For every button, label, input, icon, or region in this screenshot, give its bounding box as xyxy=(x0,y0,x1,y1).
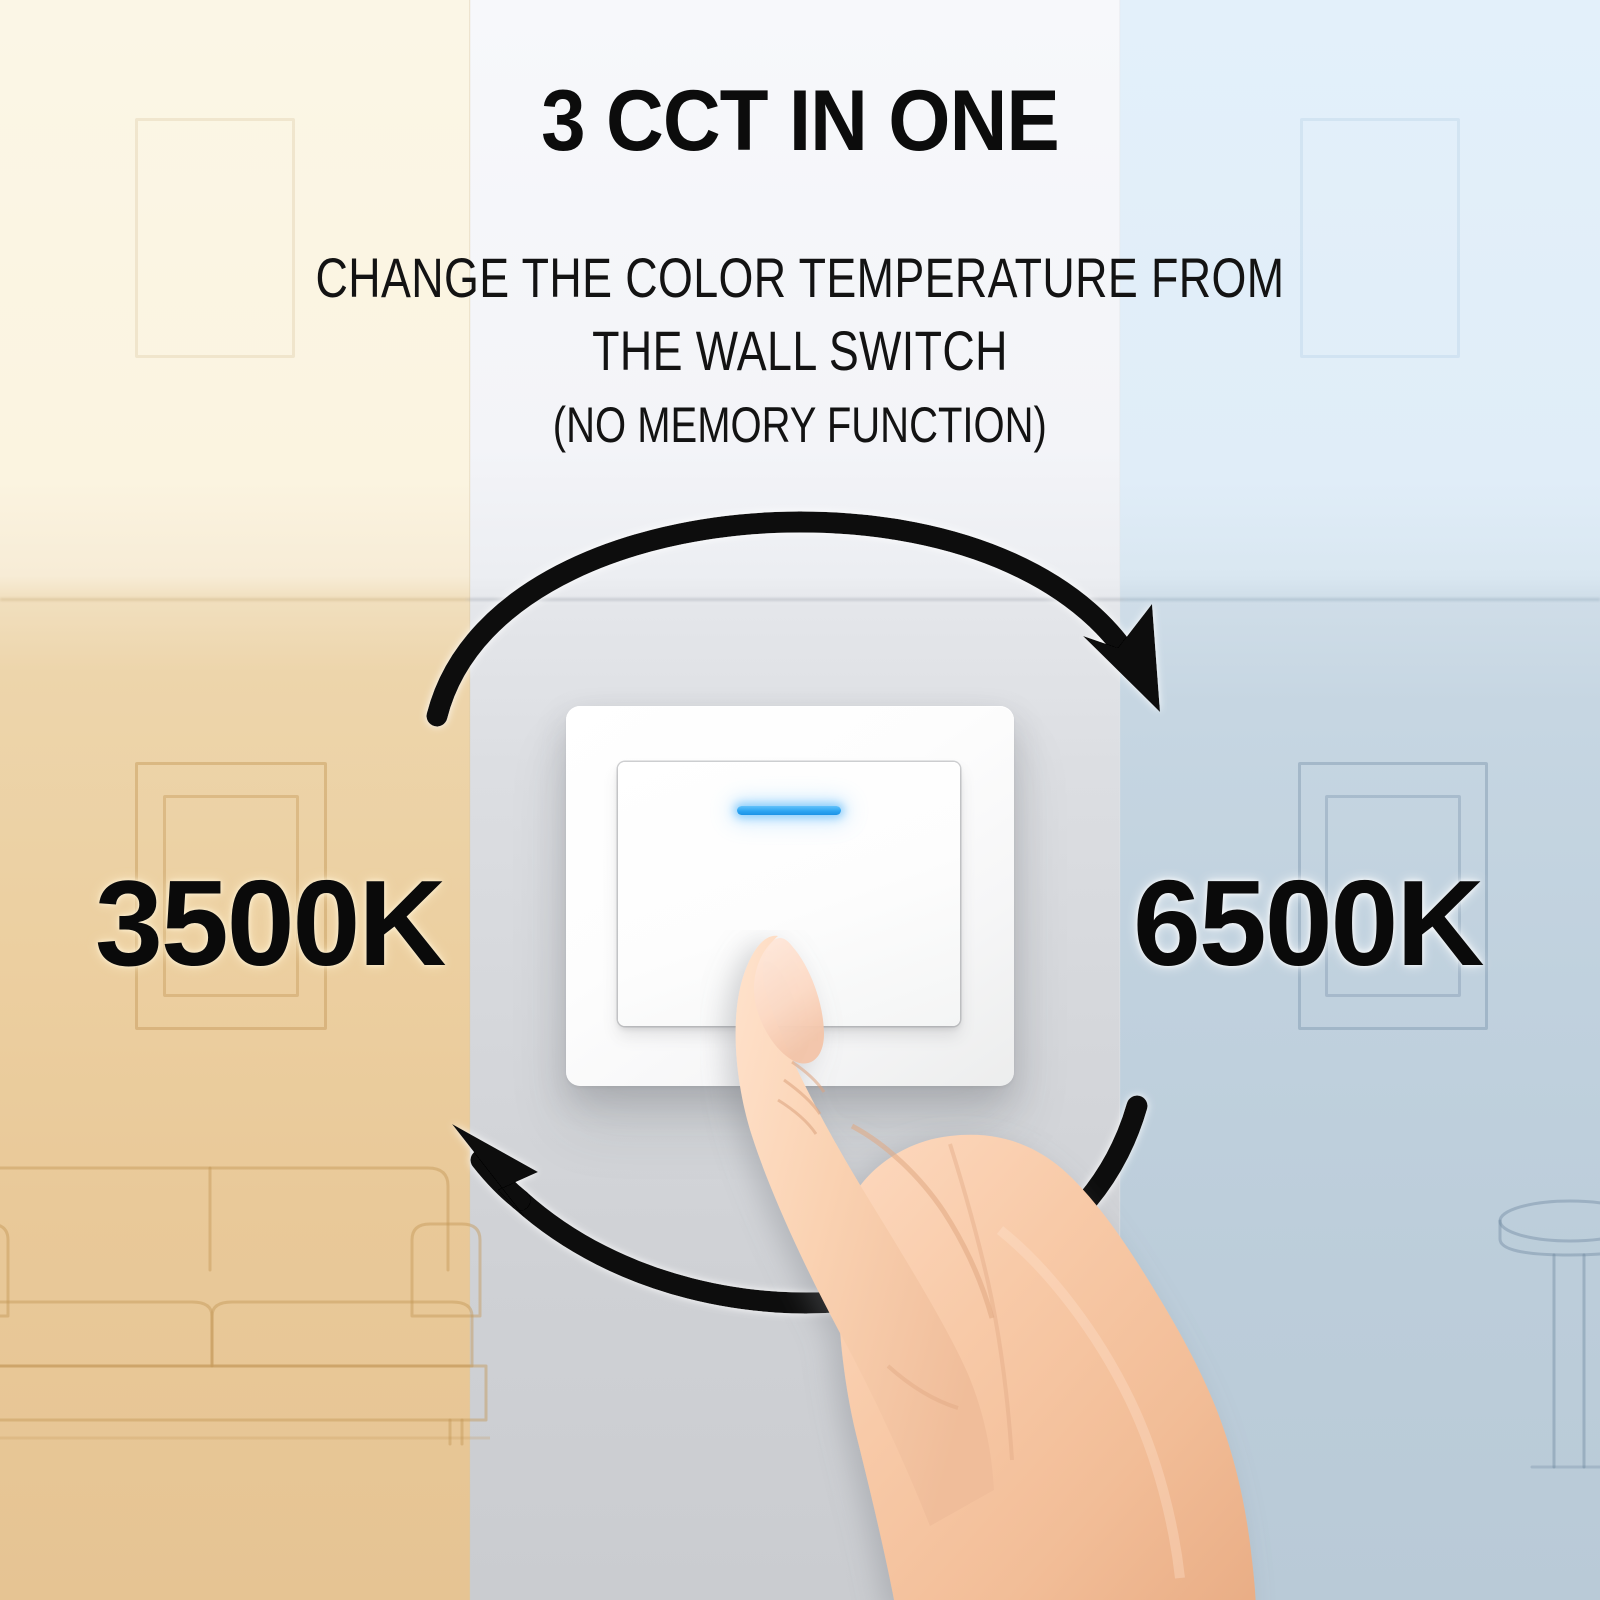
temperature-label-right: 6500K xyxy=(1133,862,1483,984)
note-block: (NO MEMORY FUNCTION) xyxy=(0,396,1600,454)
pointing-hand-icon xyxy=(700,930,1360,1600)
page-title: 3 CCT IN ONE xyxy=(56,78,1544,164)
subheading-line-1: CHANGE THE COLOR TEMPERATURE FROM xyxy=(160,242,1440,315)
temperature-label-left: 3500K xyxy=(95,862,445,984)
led-indicator-icon xyxy=(737,806,841,815)
subheading-line-2: THE WALL SWITCH xyxy=(160,315,1440,388)
curved-arrow-right-icon xyxy=(437,522,1160,716)
infographic-canvas: 3 CCT IN ONE CHANGE THE COLOR TEMPERATUR… xyxy=(0,0,1600,1600)
memory-function-note: (NO MEMORY FUNCTION) xyxy=(553,396,1047,454)
subheading-block: CHANGE THE COLOR TEMPERATURE FROM THE WA… xyxy=(0,242,1600,388)
headline-block: 3 CCT IN ONE xyxy=(0,78,1600,164)
